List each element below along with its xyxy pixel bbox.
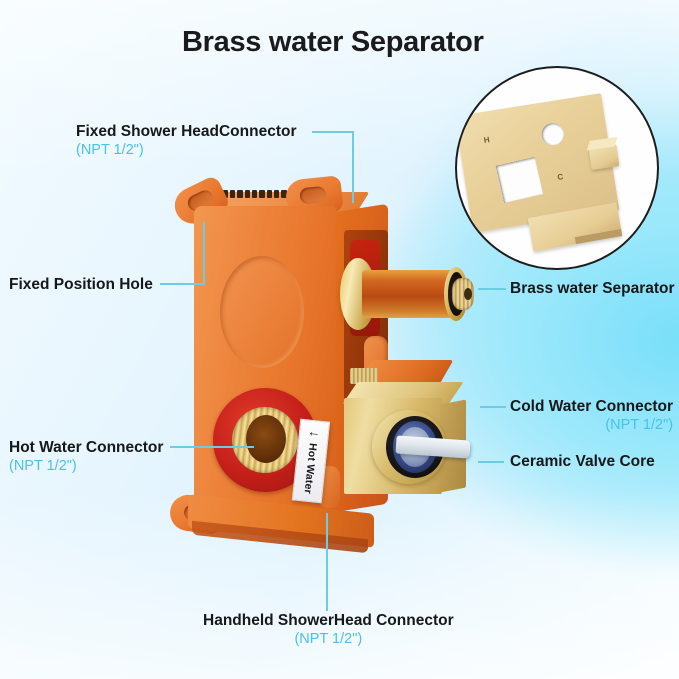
- separator-stem-hole: [464, 288, 472, 300]
- leader-brass-separator: [478, 288, 506, 290]
- label-cold-water-connector: Cold Water Connector (NPT 1/2"): [510, 397, 673, 435]
- valve-oval-recess: [220, 256, 304, 368]
- brass-water-separator-part: [340, 254, 490, 336]
- separator-barrel: [362, 270, 454, 318]
- tag-label: Hot Water: [302, 442, 319, 494]
- label-subtext: (NPT 1/2"): [9, 457, 163, 476]
- mounting-hole: [299, 186, 327, 205]
- label-text: Fixed Shower HeadConnector: [76, 122, 296, 141]
- leader-handheld-shower: [326, 513, 328, 611]
- label-subtext: (NPT 1/2"): [203, 630, 454, 649]
- label-text: Fixed Position Hole: [9, 275, 153, 294]
- label-hot-water-connector: Hot Water Connector (NPT 1/2"): [9, 438, 163, 476]
- label-fixed-shower-head: Fixed Shower HeadConnector (NPT 1/2"): [76, 122, 296, 160]
- plate-cold-mark: C: [557, 172, 564, 182]
- leader-fixed-shower-v: [352, 131, 354, 203]
- leader-cold-water: [480, 406, 506, 408]
- leader-position-hole-h: [160, 283, 205, 285]
- label-text: Cold Water Connector: [510, 397, 673, 416]
- plate-round-cutout: [540, 122, 565, 147]
- label-text: Handheld ShowerHead Connector: [203, 611, 454, 630]
- label-fixed-position-hole: Fixed Position Hole: [9, 275, 153, 294]
- rough-in-valve-body: ← Hot Water: [168, 178, 518, 533]
- square-cap-part: [589, 144, 620, 170]
- label-handheld-shower-head: Handheld ShowerHead Connector (NPT 1/2"): [203, 611, 454, 649]
- label-ceramic-valve-core: Ceramic Valve Core: [510, 452, 655, 471]
- leader-hot-water: [170, 446, 254, 448]
- label-text: Ceramic Valve Core: [510, 452, 655, 471]
- page-title: Brass water Separator: [182, 26, 484, 59]
- lever-handle-shadow: [575, 229, 622, 244]
- port-bore: [246, 415, 286, 463]
- label-brass-separator: Brass water Separator: [510, 279, 675, 298]
- leader-position-hole-v: [203, 222, 205, 284]
- label-text: Hot Water Connector: [9, 438, 163, 457]
- leader-fixed-shower-h: [312, 131, 354, 133]
- label-text: Brass water Separator: [510, 279, 675, 298]
- brass-cartridge-housing: [344, 382, 494, 500]
- leader-ceramic-core: [478, 461, 504, 463]
- label-subtext: (NPT 1/2"): [510, 416, 673, 435]
- label-subtext: (NPT 1/2"): [76, 141, 296, 160]
- plate-hot-mark: H: [483, 135, 490, 145]
- tag-arrow-icon: ←: [307, 425, 321, 439]
